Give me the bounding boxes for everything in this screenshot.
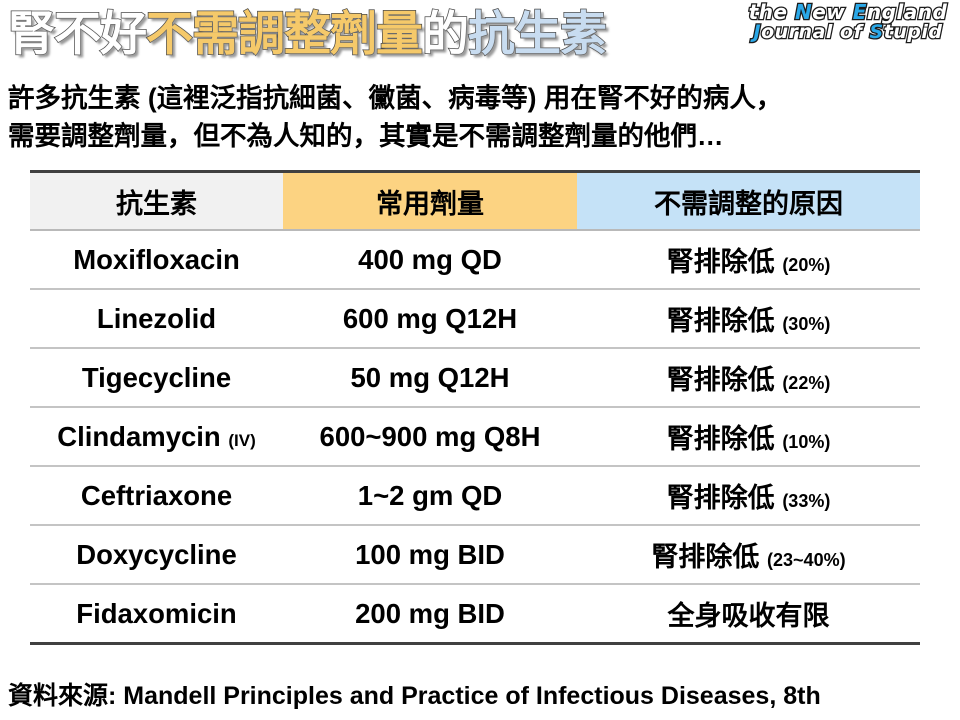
table-header-row: 抗生素 常用劑量 不需調整的原因: [30, 172, 920, 231]
drug-name: Fidaxomicin: [76, 598, 236, 629]
cell-antibiotic: Tigecycline: [30, 348, 283, 407]
column-header-reason: 不需調整的原因: [577, 172, 920, 231]
drug-name: Clindamycin: [57, 421, 221, 452]
cell-antibiotic: Clindamycin (IV): [30, 407, 283, 466]
table-header: 抗生素 常用劑量 不需調整的原因: [30, 172, 920, 231]
reason-percent: (10%): [782, 432, 830, 452]
logo-l2-p2: ournal of: [761, 21, 869, 43]
cell-dose: 600~900 mg Q8H: [283, 407, 577, 466]
drug-name: Linezolid: [97, 303, 216, 334]
reason-text: 腎排除低: [667, 365, 775, 395]
reason-percent: (20%): [782, 255, 830, 275]
table-row: Moxifloxacin400 mg QD腎排除低 (20%): [30, 230, 920, 289]
cell-reason: 全身吸收有限: [577, 584, 920, 644]
cell-dose: 200 mg BID: [283, 584, 577, 644]
drug-table: 抗生素 常用劑量 不需調整的原因 Moxifloxacin400 mg QD腎排…: [30, 170, 920, 645]
title-segment-1: 腎不好: [8, 7, 146, 60]
page-title: 腎不好不需調整劑量的抗生素: [8, 2, 738, 64]
drug-table-container: 抗生素 常用劑量 不需調整的原因 Moxifloxacin400 mg QD腎排…: [30, 170, 920, 645]
cell-reason: 腎排除低 (10%): [577, 407, 920, 466]
reason-text: 腎排除低: [667, 247, 775, 277]
cell-antibiotic: Doxycycline: [30, 525, 283, 584]
reason-percent: (23~40%): [767, 550, 846, 570]
title-segment-3: 的: [422, 7, 468, 60]
reason-percent: (30%): [782, 314, 830, 334]
title-segment-4: 抗生素: [468, 7, 606, 60]
reason-text: 全身吸收有限: [668, 601, 830, 631]
cell-reason: 腎排除低 (30%): [577, 289, 920, 348]
cell-dose: 1~2 gm QD: [283, 466, 577, 525]
logo-l2-p1: J: [754, 21, 762, 43]
reason-percent: (33%): [782, 491, 830, 511]
cell-antibiotic: Moxifloxacin: [30, 230, 283, 289]
title-text: 腎不好不需調整劑量的抗生素: [8, 10, 606, 57]
drug-name: Tigecycline: [82, 362, 231, 393]
table-body: Moxifloxacin400 mg QD腎排除低 (20%)Linezolid…: [30, 230, 920, 644]
journal-logo: the New England Journal of Stupid: [742, 2, 954, 43]
table-row: Doxycycline100 mg BID腎排除低 (23~40%): [30, 525, 920, 584]
logo-l2-p3: S: [869, 21, 883, 43]
table-row: Linezolid600 mg Q12H腎排除低 (30%): [30, 289, 920, 348]
table-row: Fidaxomicin200 mg BID全身吸收有限: [30, 584, 920, 644]
logo-l2-p4: tupid: [884, 21, 943, 43]
subtitle-line-2: 需要調整劑量，但不為人知的，其實是不需調整劑量的他們…: [8, 118, 952, 156]
cell-dose: 100 mg BID: [283, 525, 577, 584]
column-header-antibiotic: 抗生素: [30, 172, 283, 231]
drug-name: Doxycycline: [76, 539, 237, 570]
reason-text: 腎排除低: [667, 306, 775, 336]
table-row: Tigecycline50 mg Q12H腎排除低 (22%): [30, 348, 920, 407]
drug-name: Moxifloxacin: [73, 244, 240, 275]
subtitle-line-1: 許多抗生素 (這裡泛指抗細菌、黴菌、病毒等) 用在腎不好的病人，: [8, 80, 952, 118]
source-footer: 資料來源: Mandell Principles and Practice of…: [8, 676, 952, 712]
cell-antibiotic: Linezolid: [30, 289, 283, 348]
drug-route-note: (IV): [228, 431, 255, 450]
reason-percent: (22%): [782, 373, 830, 393]
logo-line-2: Journal of Stupid: [742, 23, 954, 43]
cell-antibiotic: Ceftriaxone: [30, 466, 283, 525]
column-header-dose: 常用劑量: [283, 172, 577, 231]
reason-text: 腎排除低: [667, 424, 775, 454]
subtitle-paragraph: 許多抗生素 (這裡泛指抗細菌、黴菌、病毒等) 用在腎不好的病人， 需要調整劑量，…: [8, 80, 952, 155]
cell-antibiotic: Fidaxomicin: [30, 584, 283, 644]
cell-reason: 腎排除低 (33%): [577, 466, 920, 525]
drug-name: Ceftriaxone: [81, 480, 232, 511]
cell-reason: 腎排除低 (20%): [577, 230, 920, 289]
reason-text: 腎排除低: [651, 542, 759, 572]
title-segment-2: 不需調整劑量: [146, 7, 422, 60]
reason-text: 腎排除低: [667, 483, 775, 513]
cell-reason: 腎排除低 (23~40%): [577, 525, 920, 584]
cell-reason: 腎排除低 (22%): [577, 348, 920, 407]
cell-dose: 600 mg Q12H: [283, 289, 577, 348]
table-row: Clindamycin (IV)600~900 mg Q8H腎排除低 (10%): [30, 407, 920, 466]
cell-dose: 50 mg Q12H: [283, 348, 577, 407]
cell-dose: 400 mg QD: [283, 230, 577, 289]
table-row: Ceftriaxone1~2 gm QD腎排除低 (33%): [30, 466, 920, 525]
logo-line-1: the New England: [742, 2, 954, 23]
